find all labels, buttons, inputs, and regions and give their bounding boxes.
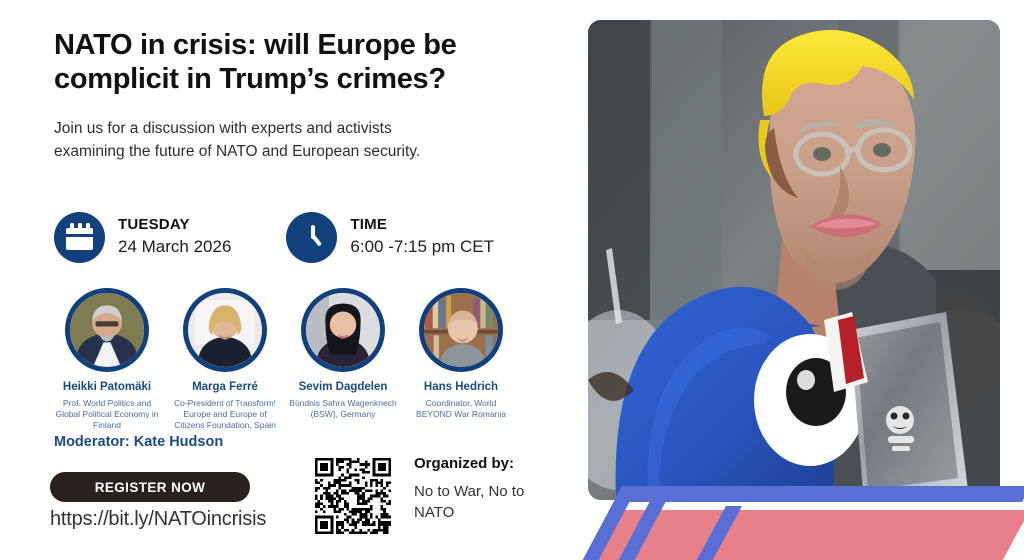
- page-subtitle: Join us for a discussion with experts an…: [54, 118, 454, 163]
- organizer-label: Organized by:: [414, 454, 544, 474]
- speakers-list: Heikki Patomäki Prof. World Politics and…: [48, 288, 548, 431]
- event-day-label: TUESDAY: [118, 216, 231, 235]
- organizer-name: No to War, No to NATO: [414, 481, 544, 525]
- speaker-name: Hans Hedrich: [424, 381, 498, 395]
- event-time-label: TIME: [350, 216, 494, 235]
- speaker-name: Marga Ferré: [192, 381, 258, 395]
- speaker-role: Co-President of Transform! Europe and Eu…: [171, 398, 279, 432]
- event-time-value: 6:00 -7:15 pm CET: [350, 236, 494, 259]
- speaker-card: Marga Ferré Co-President of Transform! E…: [166, 288, 284, 431]
- speaker-card: Heikki Patomäki Prof. World Politics and…: [48, 288, 166, 431]
- moderator-label: Moderator: Kate Hudson: [54, 434, 223, 450]
- event-date-value: 24 March 2026: [118, 236, 231, 259]
- hero-image: [588, 20, 1000, 500]
- speaker-name: Sevim Dagdelen: [299, 381, 388, 395]
- event-details-row: TUESDAY 24 March 2026 TIME 6:00 -7:15 pm…: [54, 212, 574, 263]
- speaker-role: Prof. World Politics and Global Politica…: [53, 398, 161, 432]
- qr-code[interactable]: [315, 458, 391, 534]
- decor-band-pink: [580, 510, 1024, 560]
- event-date-block: TUESDAY 24 March 2026: [54, 212, 231, 263]
- register-now-label: REGISTER NOW: [95, 480, 206, 495]
- speaker-role: Bündnis Sahra Wagenknech (BSW), Germany: [289, 398, 397, 420]
- page-title: NATO in crisis: will Europe be complicit…: [54, 28, 484, 96]
- speaker-card: Hans Hedrich Coordinator, World BEYOND W…: [402, 288, 520, 431]
- avatar: [65, 288, 149, 372]
- register-now-button[interactable]: REGISTER NOW: [50, 472, 250, 502]
- decor-band-blue-mid: [694, 506, 742, 560]
- speaker-card: Sevim Dagdelen Bündnis Sahra Wagenknech …: [284, 288, 402, 431]
- event-time-block: TIME 6:00 -7:15 pm CET: [286, 212, 494, 263]
- clock-icon: [286, 212, 337, 263]
- event-poster: NATO in crisis: will Europe be complicit…: [0, 0, 1024, 560]
- speaker-role: Coordinator, World BEYOND War Romania: [407, 398, 515, 420]
- avatar: [301, 288, 385, 372]
- avatar: [183, 288, 267, 372]
- speaker-name: Heikki Patomäki: [63, 381, 151, 395]
- calendar-icon: [54, 212, 105, 263]
- avatar: [419, 288, 503, 372]
- organizer-block: Organized by: No to War, No to NATO: [414, 454, 544, 524]
- registration-url[interactable]: https://bit.ly/NATOincrisis: [50, 508, 266, 531]
- headline-block: NATO in crisis: will Europe be complicit…: [54, 28, 554, 163]
